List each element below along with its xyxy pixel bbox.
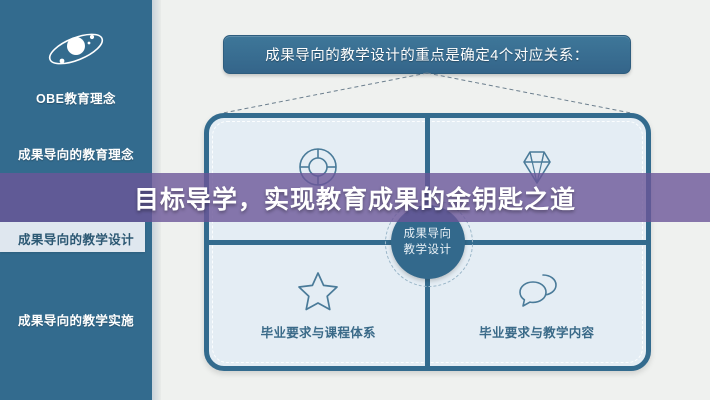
quadrant-label: 毕业要求与教学内容 — [479, 322, 594, 341]
header-banner-text: 成果导向的教学设计的重点是确定4个对应关系： — [265, 44, 589, 65]
header-banner: 成果导向的教学设计的重点是确定4个对应关系： — [223, 35, 631, 74]
sidebar-item-education-concept[interactable]: 成果导向的教育理念 — [0, 144, 152, 163]
center-hub-line-1: 成果导向 — [404, 226, 452, 242]
sidebar-item-obe[interactable]: OBE教育理念 — [0, 88, 152, 107]
quadrant-box: 培养目标与毕业要求 培养目标与社会需求 毕业要求与课程体系 — [204, 113, 651, 371]
star-icon — [296, 268, 340, 312]
atom-orbit-icon — [45, 26, 107, 72]
sidebar-item-teaching-design[interactable]: 成果导向的教学设计 — [0, 229, 152, 248]
sidebar-item-label: 成果导向的教学实施 — [18, 314, 134, 328]
center-hub-line-2: 教学设计 — [404, 242, 452, 258]
overlay-banner: 目标导学，实现教育成果的金钥匙之道 — [0, 173, 710, 222]
overlay-title: 目标导学，实现教育成果的金钥匙之道 — [0, 180, 710, 216]
quadrant-label: 毕业要求与课程体系 — [261, 322, 376, 341]
slide-canvas: OBE教育理念 成果导向的教育理念 成果导向的教学设计 成果导向的教学实施 成果… — [0, 0, 710, 400]
sidebar-item-label: OBE教育理念 — [36, 92, 116, 106]
speech-bubbles-icon — [515, 268, 559, 312]
sidebar-item-label: 成果导向的教育理念 — [18, 148, 134, 162]
sidebar-item-teaching-implementation[interactable]: 成果导向的教学实施 — [0, 310, 152, 329]
sidebar-item-label: 成果导向的教学设计 — [18, 233, 134, 247]
